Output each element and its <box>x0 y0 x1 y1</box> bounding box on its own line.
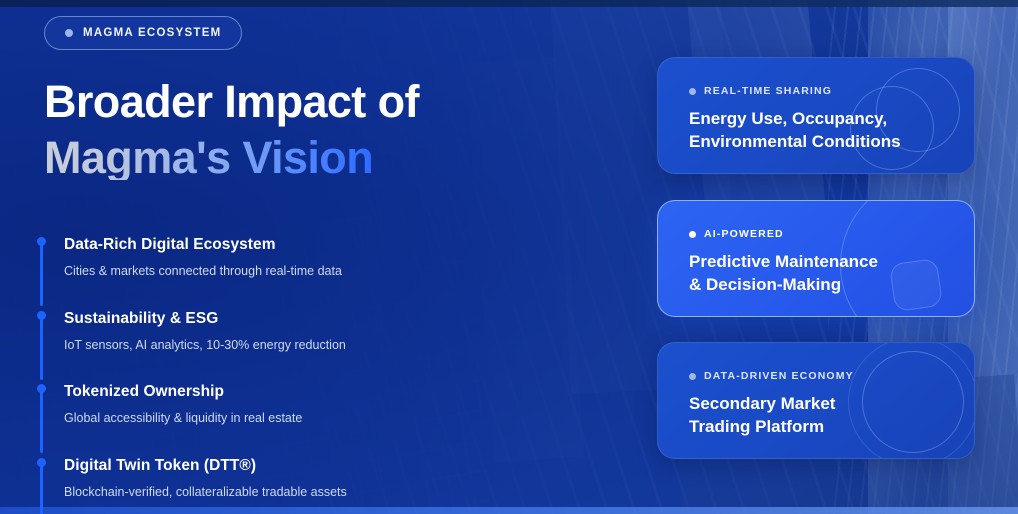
decorative-circle-icon <box>862 351 964 453</box>
card-label-text: REAL-TIME SHARING <box>704 85 832 97</box>
accent-bar-icon <box>40 318 43 380</box>
info-card-data-driven-economy[interactable]: DATA-DRIVEN ECONOMY Secondary Market Tra… <box>657 342 975 459</box>
bullet-dot-icon <box>689 88 696 95</box>
card-label: REAL-TIME SHARING <box>689 85 832 97</box>
info-card-ai-powered[interactable]: AI-POWERED Predictive Maintenance & Deci… <box>657 200 975 317</box>
info-card-real-time-sharing[interactable]: REAL-TIME SHARING Energy Use, Occupancy,… <box>657 57 975 174</box>
bullet-dot-icon <box>65 29 73 37</box>
accent-bar-icon <box>40 391 43 453</box>
page-title-line-1: Broader Impact of <box>44 79 419 124</box>
feature-title: Tokenized Ownership <box>64 383 224 401</box>
card-heading: Secondary Market Trading Platform <box>689 393 835 438</box>
card-heading: Predictive Maintenance & Decision-Making <box>689 251 878 296</box>
eyebrow-badge-label: MAGMA ECOSYSTEM <box>83 27 221 39</box>
feature-subtitle: Blockchain-verified, collateralizable tr… <box>64 485 347 499</box>
slide-content: MAGMA ECOSYSTEM Broader Impact of Magma'… <box>0 0 1018 514</box>
bullet-dot-icon <box>689 373 696 380</box>
feature-subtitle: Global accessibility & liquidity in real… <box>64 411 302 425</box>
accent-bar-icon <box>40 465 43 514</box>
eyebrow-badge: MAGMA ECOSYSTEM <box>44 16 242 50</box>
feature-subtitle: IoT sensors, AI analytics, 10-30% energy… <box>64 338 346 352</box>
page-title-line-2: Magma's Vision <box>44 135 373 180</box>
feature-title: Data-Rich Digital Ecosystem <box>64 236 276 254</box>
decorative-circle-icon <box>848 342 975 459</box>
decorative-square-icon <box>889 258 943 312</box>
feature-subtitle: Cities & markets connected through real-… <box>64 264 342 278</box>
card-label-text: AI-POWERED <box>704 228 784 240</box>
feature-title: Digital Twin Token (DTT®) <box>64 457 256 475</box>
bullet-dot-icon <box>689 231 696 238</box>
card-label: DATA-DRIVEN ECONOMY <box>689 370 854 382</box>
card-heading: Energy Use, Occupancy, Environmental Con… <box>689 108 901 153</box>
card-label-text: DATA-DRIVEN ECONOMY <box>704 370 854 382</box>
accent-bar-icon <box>40 244 43 306</box>
feature-title: Sustainability & ESG <box>64 310 218 328</box>
card-label: AI-POWERED <box>689 228 784 240</box>
